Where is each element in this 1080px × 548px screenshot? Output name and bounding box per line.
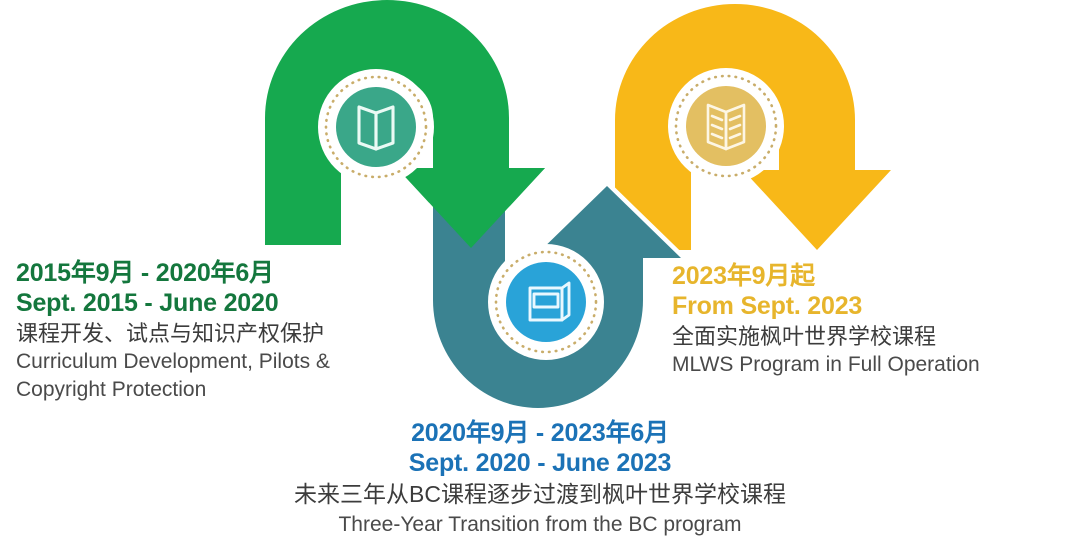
stage-2-heading-en: Sept. 2020 - June 2023	[0, 448, 1080, 479]
infographic-canvas: 2015年9月 - 2020年6月 Sept. 2015 - June 2020…	[0, 0, 1080, 548]
stage-1-heading-cn: 2015年9月 - 2020年6月	[16, 258, 330, 288]
green-arrowhead-overlap	[397, 168, 545, 248]
stage-3-text-block: 2023年9月起 From Sept. 2023 全面实施枫叶世界学校课程 ML…	[672, 261, 980, 379]
stage-1-body-en-line2: Copyright Protection	[16, 376, 330, 404]
stage-3-body-cn: 全面实施枫叶世界学校课程	[672, 322, 980, 351]
stage-2-text-block: 2020年9月 - 2023年6月 Sept. 2020 - June 2023…	[0, 418, 1080, 539]
stage-3-icon-badge	[668, 68, 784, 184]
stage-2-icon-badge	[488, 244, 604, 360]
stage-3-heading-en: From Sept. 2023	[672, 291, 980, 322]
stage-1-icon-badge	[318, 69, 434, 185]
icon-disc	[506, 262, 586, 342]
stage-2-body-cn: 未来三年从BC课程逐步过渡到枫叶世界学校课程	[0, 479, 1080, 510]
stage-2-heading-cn: 2020年9月 - 2023年6月	[0, 418, 1080, 448]
stage-1-heading-en: Sept. 2015 - June 2020	[16, 288, 330, 319]
stage-1-text-block: 2015年9月 - 2020年6月 Sept. 2015 - June 2020…	[16, 258, 330, 404]
stage-1-body-en-line1: Curriculum Development, Pilots &	[16, 348, 330, 376]
stage-2-body-en-line1: Three-Year Transition from the BC progra…	[0, 510, 1080, 539]
stage-1-body-cn: 课程开发、试点与知识产权保护	[16, 319, 330, 348]
stage-3-heading-cn: 2023年9月起	[672, 261, 980, 291]
stage-3-body-en-line1: MLWS Program in Full Operation	[672, 351, 980, 379]
